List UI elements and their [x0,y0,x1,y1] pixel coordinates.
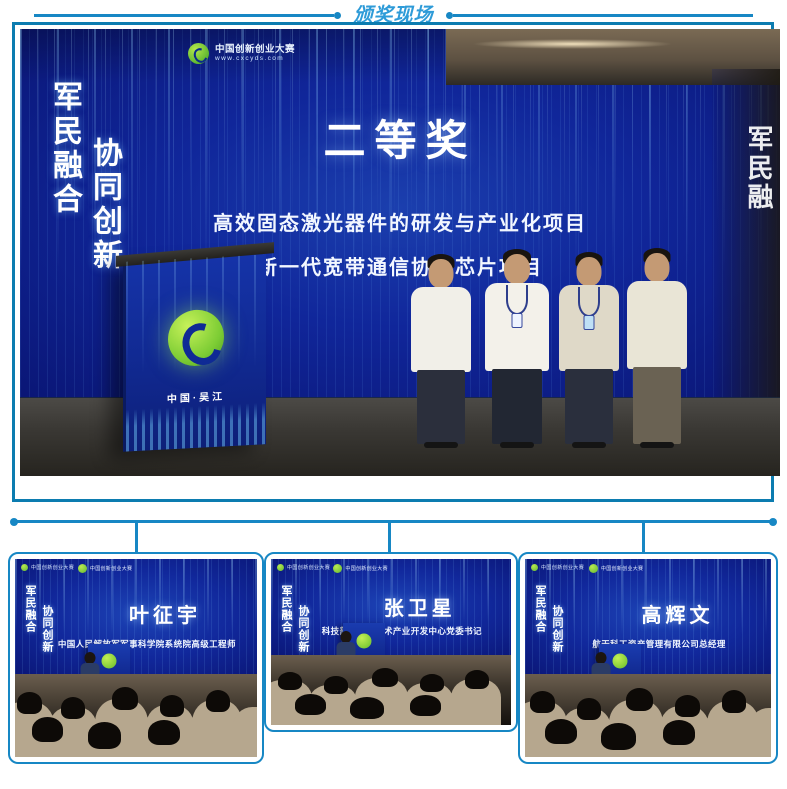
audience-member [530,691,555,713]
divider-dot-left [10,518,18,526]
contest-logo-icon [589,564,598,573]
divider-tick-1 [135,523,138,553]
recipient-shoes [424,442,458,448]
recipient-trousers [633,367,681,444]
header-rule-left [34,14,334,17]
contest-logo-icon [78,564,87,573]
recipient-shoes [572,442,606,448]
audience-member [148,720,179,745]
divider-dot-right [769,518,777,526]
award-ceremony-photo: 中国创新创业大赛 www.cxcyds.com 军民融合 协同创新 军民融 二等… [20,29,780,476]
venue-logo-icon [21,564,28,571]
audience-member [61,697,85,719]
speaker-role: 中国人民解放军军事科学院系统院高级工程师 [44,638,250,650]
divider-line [14,520,773,523]
recipient-1 [408,254,474,444]
thumbnail-photo: 中国创新创业大赛 中国创新创业大赛 军民融合 协同创新 高辉文 航天科工资产管理… [525,559,771,757]
speaker-name: 高辉文 [594,599,761,628]
contest-logo-url: www.cxcyds.com [215,55,295,62]
thumbnail-gao-huiwen[interactable]: 中国创新创业大赛 中国创新创业大赛 军民融合 协同创新 高辉文 航天科工资产管理… [518,552,778,764]
recipient-4 [624,248,690,444]
venue-logo-text: 中国创新创业大赛 [287,564,330,571]
audience-member [324,676,348,693]
thumb-contest-logo: 中国创新创业大赛 [333,564,387,573]
audience-member [32,717,63,742]
award-title: 二等奖 [20,107,780,168]
audience-member [88,722,122,749]
audience-member [577,698,602,720]
audience-member [295,694,326,715]
recipient-shirt [411,287,471,372]
divider-tick-2 [388,523,391,553]
thumbnail-zhang-weixing[interactable]: 中国创新创业大赛 中国创新创业大赛 军民融合 协同创新 张卫星 科技部火炬高技术… [264,552,518,732]
recipient-lanyard [506,285,528,315]
audience-member [17,692,41,714]
podium-logo-icon [168,308,224,367]
thumb-venue-logo: 中国创新创业大赛 [277,564,330,571]
audience-member [420,674,444,692]
recipient-shirt [627,281,687,369]
audience-member [465,670,489,689]
thumb-slogan-1: 军民融合 [278,585,294,633]
section-divider [10,520,777,524]
thumb-venue-logo: 中国创新创业大赛 [21,564,74,571]
speaker-role: 航天科工资产管理有限公司总经理 [555,638,764,650]
recipient-shoes [640,442,674,448]
thumb-contest-logo: 中国创新创业大赛 [589,564,643,573]
audience-member [626,688,653,711]
recipient-head [504,254,530,284]
recipient-head [429,259,454,288]
audience-member [278,672,302,690]
thumbnail-ye-zhengyu[interactable]: 中国创新创业大赛 中国创新创业大赛 军民融合 协同创新 叶征宇 中国人民解放军军… [8,552,264,764]
award-project-line-1: 高效固态激光器件的研发与产业化项目 [20,207,780,236]
recipient-head [577,257,602,286]
thumbnail-photo: 中国创新创业大赛 中国创新创业大赛 军民融合 协同创新 张卫星 科技部火炬高技术… [271,559,511,725]
venue-logo-icon [531,564,538,571]
thumb-venue-logo: 中国创新创业大赛 [531,564,584,571]
recipient-3 [556,252,622,444]
audience-member [410,695,441,716]
recipient-head [645,253,670,282]
audience-member [722,690,747,712]
recipient-lanyard [578,287,600,317]
recipient-trousers [417,370,465,444]
audience-member [233,707,257,757]
contest-logo-text: 中国创新创业大赛 [601,565,643,572]
contest-logo-text: 中国创新创业大赛 [345,565,387,572]
thumbnail-photo: 中国创新创业大赛 中国创新创业大赛 军民融合 协同创新 叶征宇 中国人民解放军军… [15,559,257,757]
contest-logo: 中国创新创业大赛 www.cxcyds.com [188,43,295,64]
thumb-slogan-1: 军民融合 [22,585,38,633]
thumb-audience [525,674,771,757]
recipient-2 [482,249,552,444]
contest-logo-icon [333,564,342,573]
contest-logo-title: 中国创新创业大赛 [215,45,295,55]
contest-logo-text: 中国创新创业大赛 www.cxcyds.com [215,45,295,62]
header-rule-right [453,14,753,17]
thumb-slogan-1: 军民融合 [532,585,548,633]
audience-member [206,690,230,712]
audience-member [545,719,577,744]
audience-member [749,708,771,757]
thumb-audience [15,674,257,757]
audience-member [112,687,139,710]
venue-logo-text: 中国创新创业大赛 [31,564,74,571]
recipient-badge [584,315,595,330]
audience-member [372,668,398,688]
recipient-trousers [565,369,613,444]
audience-member [675,695,700,717]
thumb-contest-logo: 中国创新创业大赛 [78,564,132,573]
divider-tick-3 [642,523,645,553]
thumb-audience [271,655,511,725]
speaker-name: 张卫星 [338,592,501,621]
recipient-shoes [500,442,534,448]
recipient-badge [512,313,523,328]
venue-logo-text: 中国创新创业大赛 [541,564,584,571]
contest-logo-text: 中国创新创业大赛 [90,565,132,572]
speaker-role: 科技部火炬高技术产业开发中心党委书记 [300,625,504,637]
venue-logo-icon [277,564,284,571]
audience-member [160,695,184,717]
header-dot-right [446,12,453,19]
header-dot-left [334,12,341,19]
audience-member [350,697,384,719]
audience-member [663,720,695,745]
recipient-trousers [492,369,542,444]
audience-member [601,723,635,750]
podium-skyline-graphic [126,402,266,451]
contest-logo-icon [188,43,209,64]
stage-podium: 中国·吴江 [123,254,266,451]
speaker-name: 叶征宇 [83,599,248,628]
